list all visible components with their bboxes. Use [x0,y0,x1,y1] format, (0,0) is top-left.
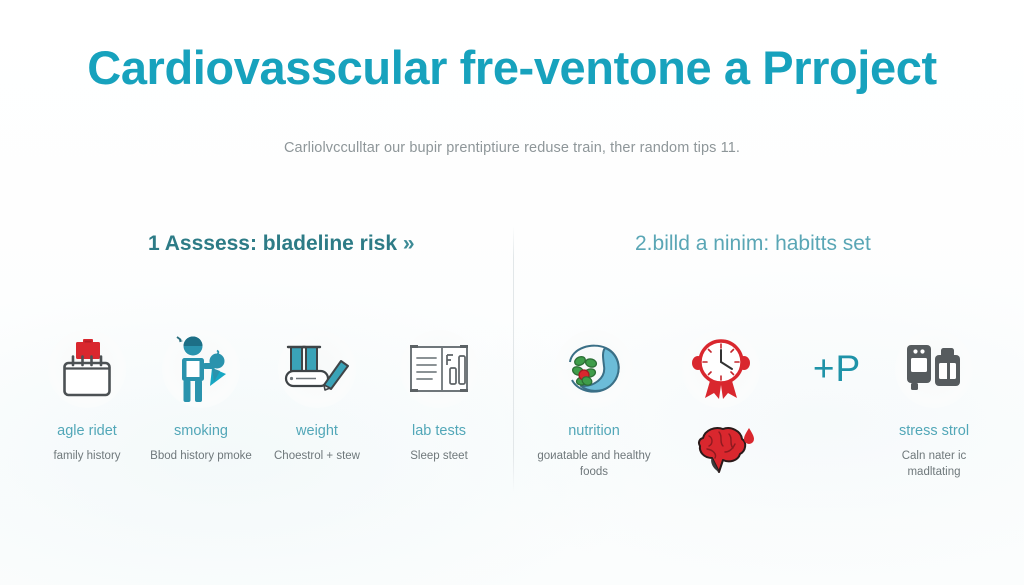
bp-monitor-pills-icon [895,330,973,408]
item-sublabel: goиatable and healthy foods [536,448,652,481]
item-lab-tests[interactable]: lab tests Sleep steet [381,330,497,464]
item-label: nutrition [536,423,652,440]
item-label: agle ridet [29,423,145,440]
item-sublabel: Caln nater ic madltating [876,448,992,481]
item-clock-award[interactable] [663,330,779,423]
chevron-right-icon: » [403,232,415,255]
slide-canvas: Cardiovasscular fre-ventone a Prroject C… [0,0,1024,585]
test-tubes-icon [278,330,356,408]
item-nutrition[interactable]: nutrition goиatable and healthy foods [536,330,652,481]
nutrition-bowl-icon [555,330,633,408]
item-sublabel: family history [29,448,145,465]
plus-p-glyph: +P [798,330,876,408]
section-heading-assess-text: 1 Asssess: bladeline risk [148,232,397,255]
item-label: weight [259,423,375,440]
lab-book-icon [400,330,478,408]
item-smoking[interactable]: smoking Bbod history pmoke [143,330,259,464]
section-heading-habits: 2.billd a ninim: habitts set [635,232,871,256]
item-label: lab tests [381,423,497,440]
item-brain-stroke[interactable] [663,422,779,493]
item-age-risk[interactable]: agle ridet family history [29,330,145,464]
plus-p-text: +P [813,330,861,408]
brain-drop-icon [682,422,760,478]
section-heading-assess: 1 Asssess: bladeline risk » [148,232,415,256]
calendar-briefcase-icon [48,330,126,408]
item-stress-control[interactable]: stress strol Caln nater ic madltating [876,330,992,481]
item-weight[interactable]: weight Choestrol + stew [259,330,375,464]
item-label: smoking [143,423,259,440]
item-label: stress strol [876,423,992,440]
item-sublabel: Sleep steet [381,448,497,465]
page-title: Cardiovasscular fre-ventone a Prroject [0,40,1024,95]
item-sublabel: Choestrol + stew [259,448,375,465]
person-smoking-icon [162,330,240,408]
page-subtitle: Carliolvcculltar our bupir prentiptiure … [0,140,1024,156]
clock-award-icon [682,330,760,408]
item-sublabel: Bbod history pmoke [143,448,259,465]
icon-grid: agle ridet family history [0,330,1024,505]
